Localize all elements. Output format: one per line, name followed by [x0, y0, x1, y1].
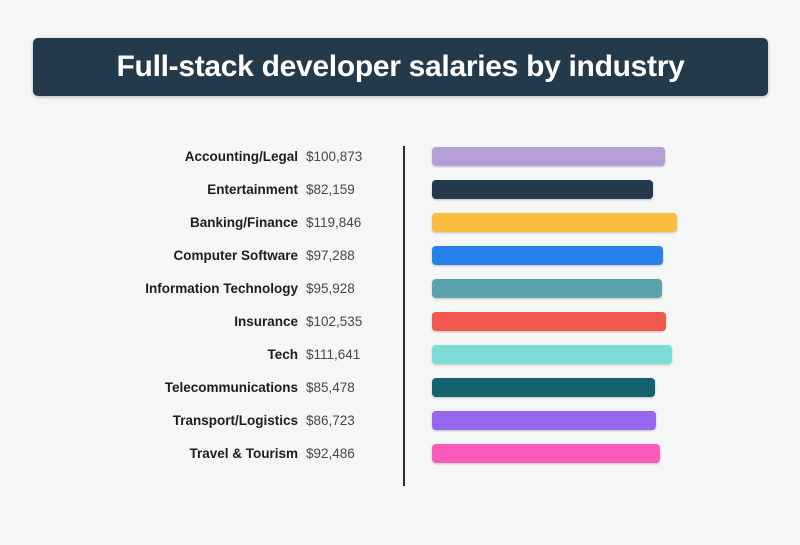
bar-chart: Accounting/Legal$100,873Entertainment$82… [0, 140, 800, 492]
bar [432, 378, 655, 397]
category-label: Travel & Tourism [40, 446, 298, 461]
chart-row: Accounting/Legal$100,873 [0, 140, 800, 173]
bar [432, 444, 660, 463]
chart-row: Transport/Logistics$86,723 [0, 404, 800, 437]
bar [432, 312, 666, 331]
bar-track [432, 404, 762, 437]
page-title: Full-stack developer salaries by industr… [117, 50, 685, 84]
bar-track [432, 206, 762, 239]
value-label: $82,159 [306, 182, 398, 197]
bar [432, 345, 672, 364]
chart-row: Tech$111,641 [0, 338, 800, 371]
bar-track [432, 437, 762, 470]
category-label: Banking/Finance [40, 215, 298, 230]
bar [432, 180, 653, 199]
bar [432, 279, 662, 298]
category-label: Computer Software [40, 248, 298, 263]
bar-track [432, 338, 762, 371]
value-label: $86,723 [306, 413, 398, 428]
category-label: Entertainment [40, 182, 298, 197]
bar-track [432, 140, 762, 173]
chart-row: Telecommunications$85,478 [0, 371, 800, 404]
value-label: $119,846 [306, 215, 398, 230]
bar-track [432, 239, 762, 272]
value-label: $97,288 [306, 248, 398, 263]
title-banner: Full-stack developer salaries by industr… [33, 38, 768, 96]
value-label: $95,928 [306, 281, 398, 296]
value-label: $85,478 [306, 380, 398, 395]
chart-page: Full-stack developer salaries by industr… [0, 0, 800, 545]
category-label: Information Technology [40, 281, 298, 296]
category-label: Accounting/Legal [40, 149, 298, 164]
chart-row: Insurance$102,535 [0, 305, 800, 338]
bar-track [432, 305, 762, 338]
category-label: Telecommunications [40, 380, 298, 395]
bar [432, 246, 663, 265]
value-label: $111,641 [306, 347, 398, 362]
chart-row: Entertainment$82,159 [0, 173, 800, 206]
category-label: Insurance [40, 314, 298, 329]
bar-track [432, 173, 762, 206]
bar [432, 147, 665, 166]
bar-track [432, 371, 762, 404]
bar [432, 411, 656, 430]
bar-track [432, 272, 762, 305]
chart-row: Computer Software$97,288 [0, 239, 800, 272]
category-label: Transport/Logistics [40, 413, 298, 428]
category-label: Tech [40, 347, 298, 362]
chart-row: Travel & Tourism$92,486 [0, 437, 800, 470]
value-label: $102,535 [306, 314, 398, 329]
chart-row: Banking/Finance$119,846 [0, 206, 800, 239]
value-label: $92,486 [306, 446, 398, 461]
value-label: $100,873 [306, 149, 398, 164]
chart-rows: Accounting/Legal$100,873Entertainment$82… [0, 140, 800, 470]
bar [432, 213, 677, 232]
chart-row: Information Technology$95,928 [0, 272, 800, 305]
